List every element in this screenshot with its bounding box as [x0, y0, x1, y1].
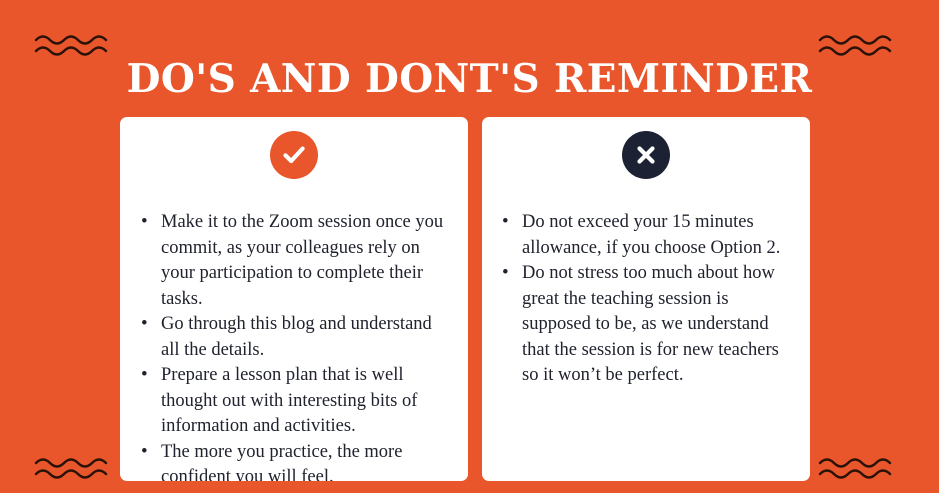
do-badge-row — [120, 117, 468, 179]
do-card: Make it to the Zoom session once you com… — [120, 117, 468, 481]
list-item: Go through this blog and understand all … — [139, 312, 451, 363]
list-item: Do not stress too much about how great t… — [500, 261, 795, 389]
dont-card: Do not exceed your 15 minutes allowance,… — [482, 117, 810, 481]
wave-decoration-bottom-right — [818, 455, 904, 481]
dont-list: Do not exceed your 15 minutes allowance,… — [500, 210, 795, 389]
check-circle-icon — [270, 131, 318, 179]
dont-badge-row — [482, 117, 810, 179]
wave-decoration-top-right — [818, 32, 904, 58]
list-item: The more you practice, the more confiden… — [139, 440, 451, 482]
wave-decoration-top-left — [34, 32, 120, 58]
cards-container: Make it to the Zoom session once you com… — [120, 117, 810, 481]
list-item: Do not exceed your 15 minutes allowance,… — [500, 210, 795, 261]
list-item: Prepare a lesson plan that is well thoug… — [139, 363, 451, 440]
x-circle-icon — [622, 131, 670, 179]
do-list: Make it to the Zoom session once you com… — [139, 210, 451, 481]
list-item: Make it to the Zoom session once you com… — [139, 210, 451, 312]
poster-canvas: DO'S AND DONT'S REMINDER Make it to the … — [0, 0, 939, 493]
wave-decoration-bottom-left — [34, 455, 120, 481]
page-title: DO'S AND DONT'S REMINDER — [0, 60, 939, 99]
